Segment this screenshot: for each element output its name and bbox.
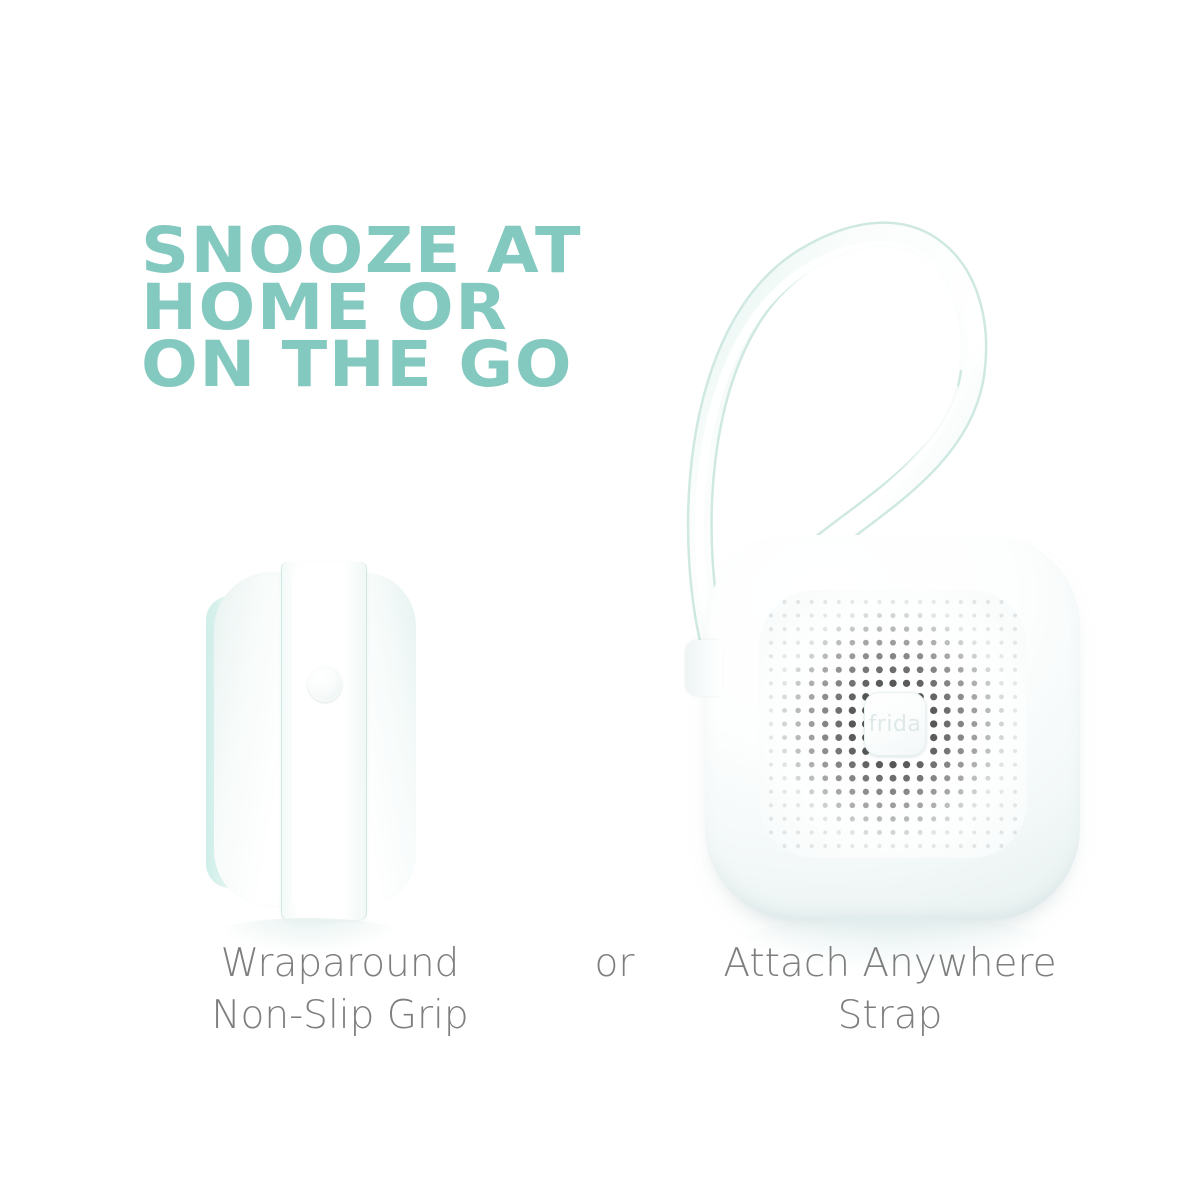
headline-line-3: ON THE GO xyxy=(141,336,692,393)
grip-power-button-icon xyxy=(308,666,342,702)
product-marketing-image: SNOOZE AT HOME OR ON THE GO xyxy=(0,0,1200,1200)
brand-logo-text: frida xyxy=(869,712,922,737)
page-title: SNOOZE AT HOME OR ON THE GO xyxy=(141,222,692,393)
product-image-attach-anywhere-strap: frida xyxy=(655,120,1115,950)
brand-logo-plate: frida xyxy=(864,692,926,756)
caption-attach-anywhere-strap: Attach Anywhere Strap xyxy=(690,938,1090,1042)
product-image-wraparound-grip xyxy=(196,562,420,924)
grip-band-highlight xyxy=(292,568,318,912)
caption-separator-or: or xyxy=(552,938,677,990)
grip-wraparound-band xyxy=(282,562,366,920)
strap-anchor-nub xyxy=(686,640,722,696)
caption-wraparound-grip: Wraparound Non-Slip Grip xyxy=(130,938,550,1042)
